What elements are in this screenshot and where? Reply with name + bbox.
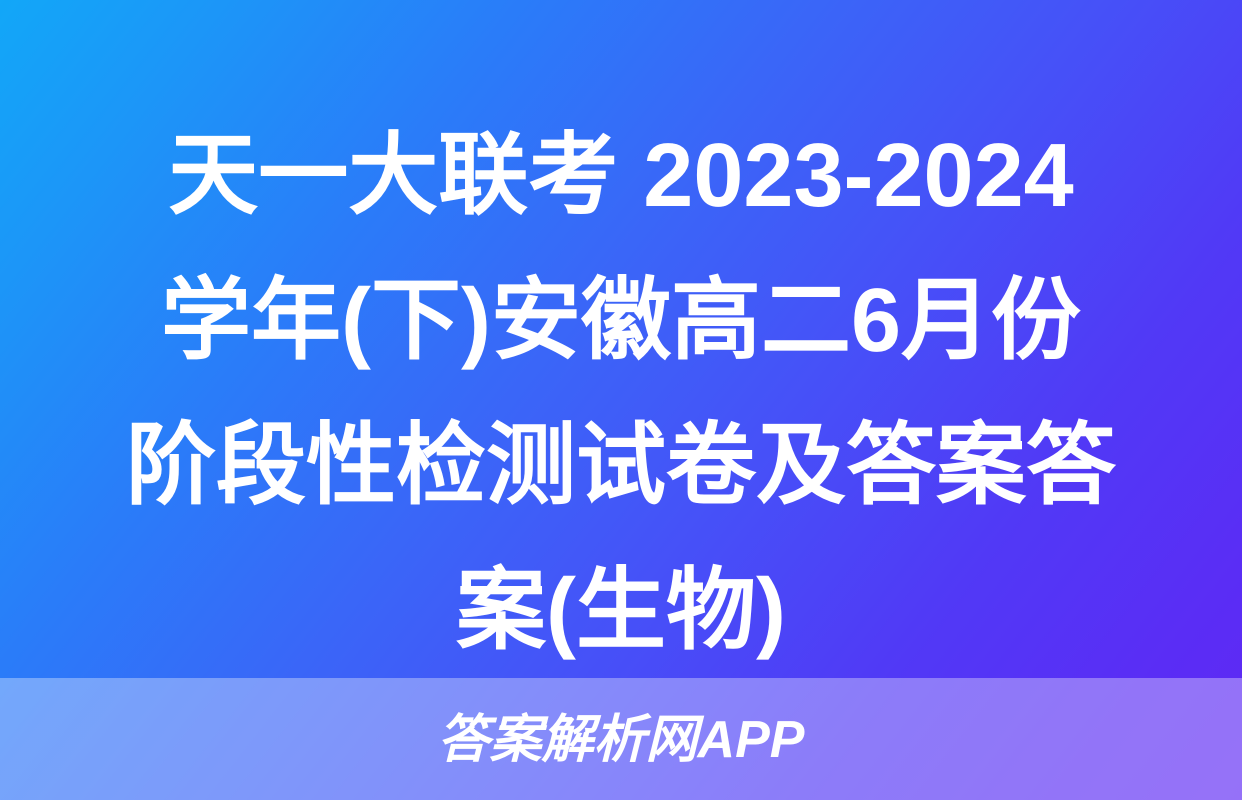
page-title: 天一大联考 2023-2024 学年(下)安徽高二6月份 阶段性检测试卷及答案答… [0,104,1242,684]
title-line-2: 学年(下)安徽高二6月份 [34,249,1208,394]
footer-band: 答案解析网APP [0,678,1242,800]
promo-banner: 天一大联考 2023-2024 学年(下)安徽高二6月份 阶段性检测试卷及答案答… [0,0,1242,800]
title-line-3: 阶段性检测试卷及答案答 [34,394,1208,539]
title-line-1: 天一大联考 2023-2024 [34,104,1208,249]
app-watermark-label: 答案解析网APP [438,714,805,766]
title-line-4: 案(生物) [34,539,1208,684]
